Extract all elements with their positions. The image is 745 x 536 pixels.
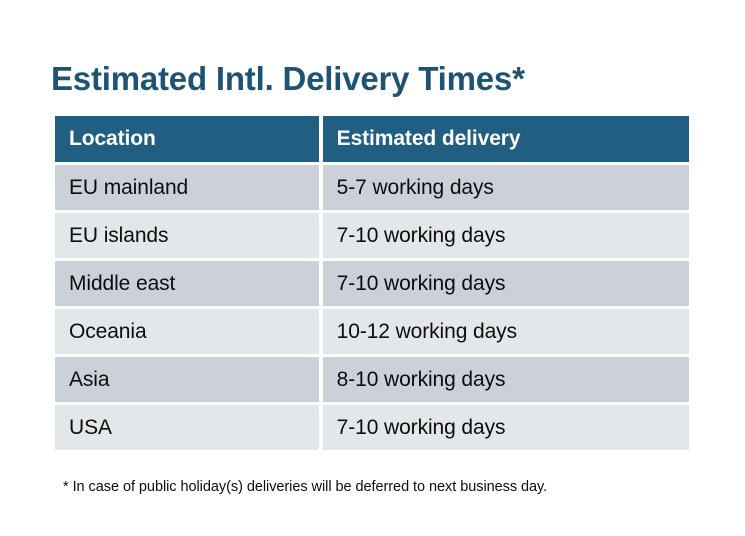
cell-location: EU islands <box>55 213 319 258</box>
table-row: Asia 8-10 working days <box>55 357 689 402</box>
cell-location: Asia <box>55 357 319 402</box>
table-body: EU mainland 5-7 working days EU islands … <box>55 165 689 450</box>
cell-location: USA <box>55 405 319 450</box>
cell-estimated-delivery: 5-7 working days <box>323 165 689 210</box>
delivery-times-table: Location Estimated delivery EU mainland … <box>51 113 693 453</box>
table-row: USA 7-10 working days <box>55 405 689 450</box>
cell-location: Oceania <box>55 309 319 354</box>
delivery-times-page: Estimated Intl. Delivery Times* Location… <box>0 0 745 536</box>
page-title: Estimated Intl. Delivery Times* <box>51 58 525 100</box>
cell-estimated-delivery: 8-10 working days <box>323 357 689 402</box>
cell-estimated-delivery: 7-10 working days <box>323 213 689 258</box>
cell-estimated-delivery: 7-10 working days <box>323 405 689 450</box>
table-header-row: Location Estimated delivery <box>55 116 689 162</box>
table-row: Oceania 10-12 working days <box>55 309 689 354</box>
column-header-estimated-delivery: Estimated delivery <box>323 116 689 162</box>
table-row: EU islands 7-10 working days <box>55 213 689 258</box>
cell-location: EU mainland <box>55 165 319 210</box>
table-row: EU mainland 5-7 working days <box>55 165 689 210</box>
table-row: Middle east 7-10 working days <box>55 261 689 306</box>
cell-location: Middle east <box>55 261 319 306</box>
cell-estimated-delivery: 10-12 working days <box>323 309 689 354</box>
footnote-text: * In case of public holiday(s) deliverie… <box>63 479 547 495</box>
column-header-location: Location <box>55 116 319 162</box>
cell-estimated-delivery: 7-10 working days <box>323 261 689 306</box>
table-header: Location Estimated delivery <box>55 116 689 162</box>
